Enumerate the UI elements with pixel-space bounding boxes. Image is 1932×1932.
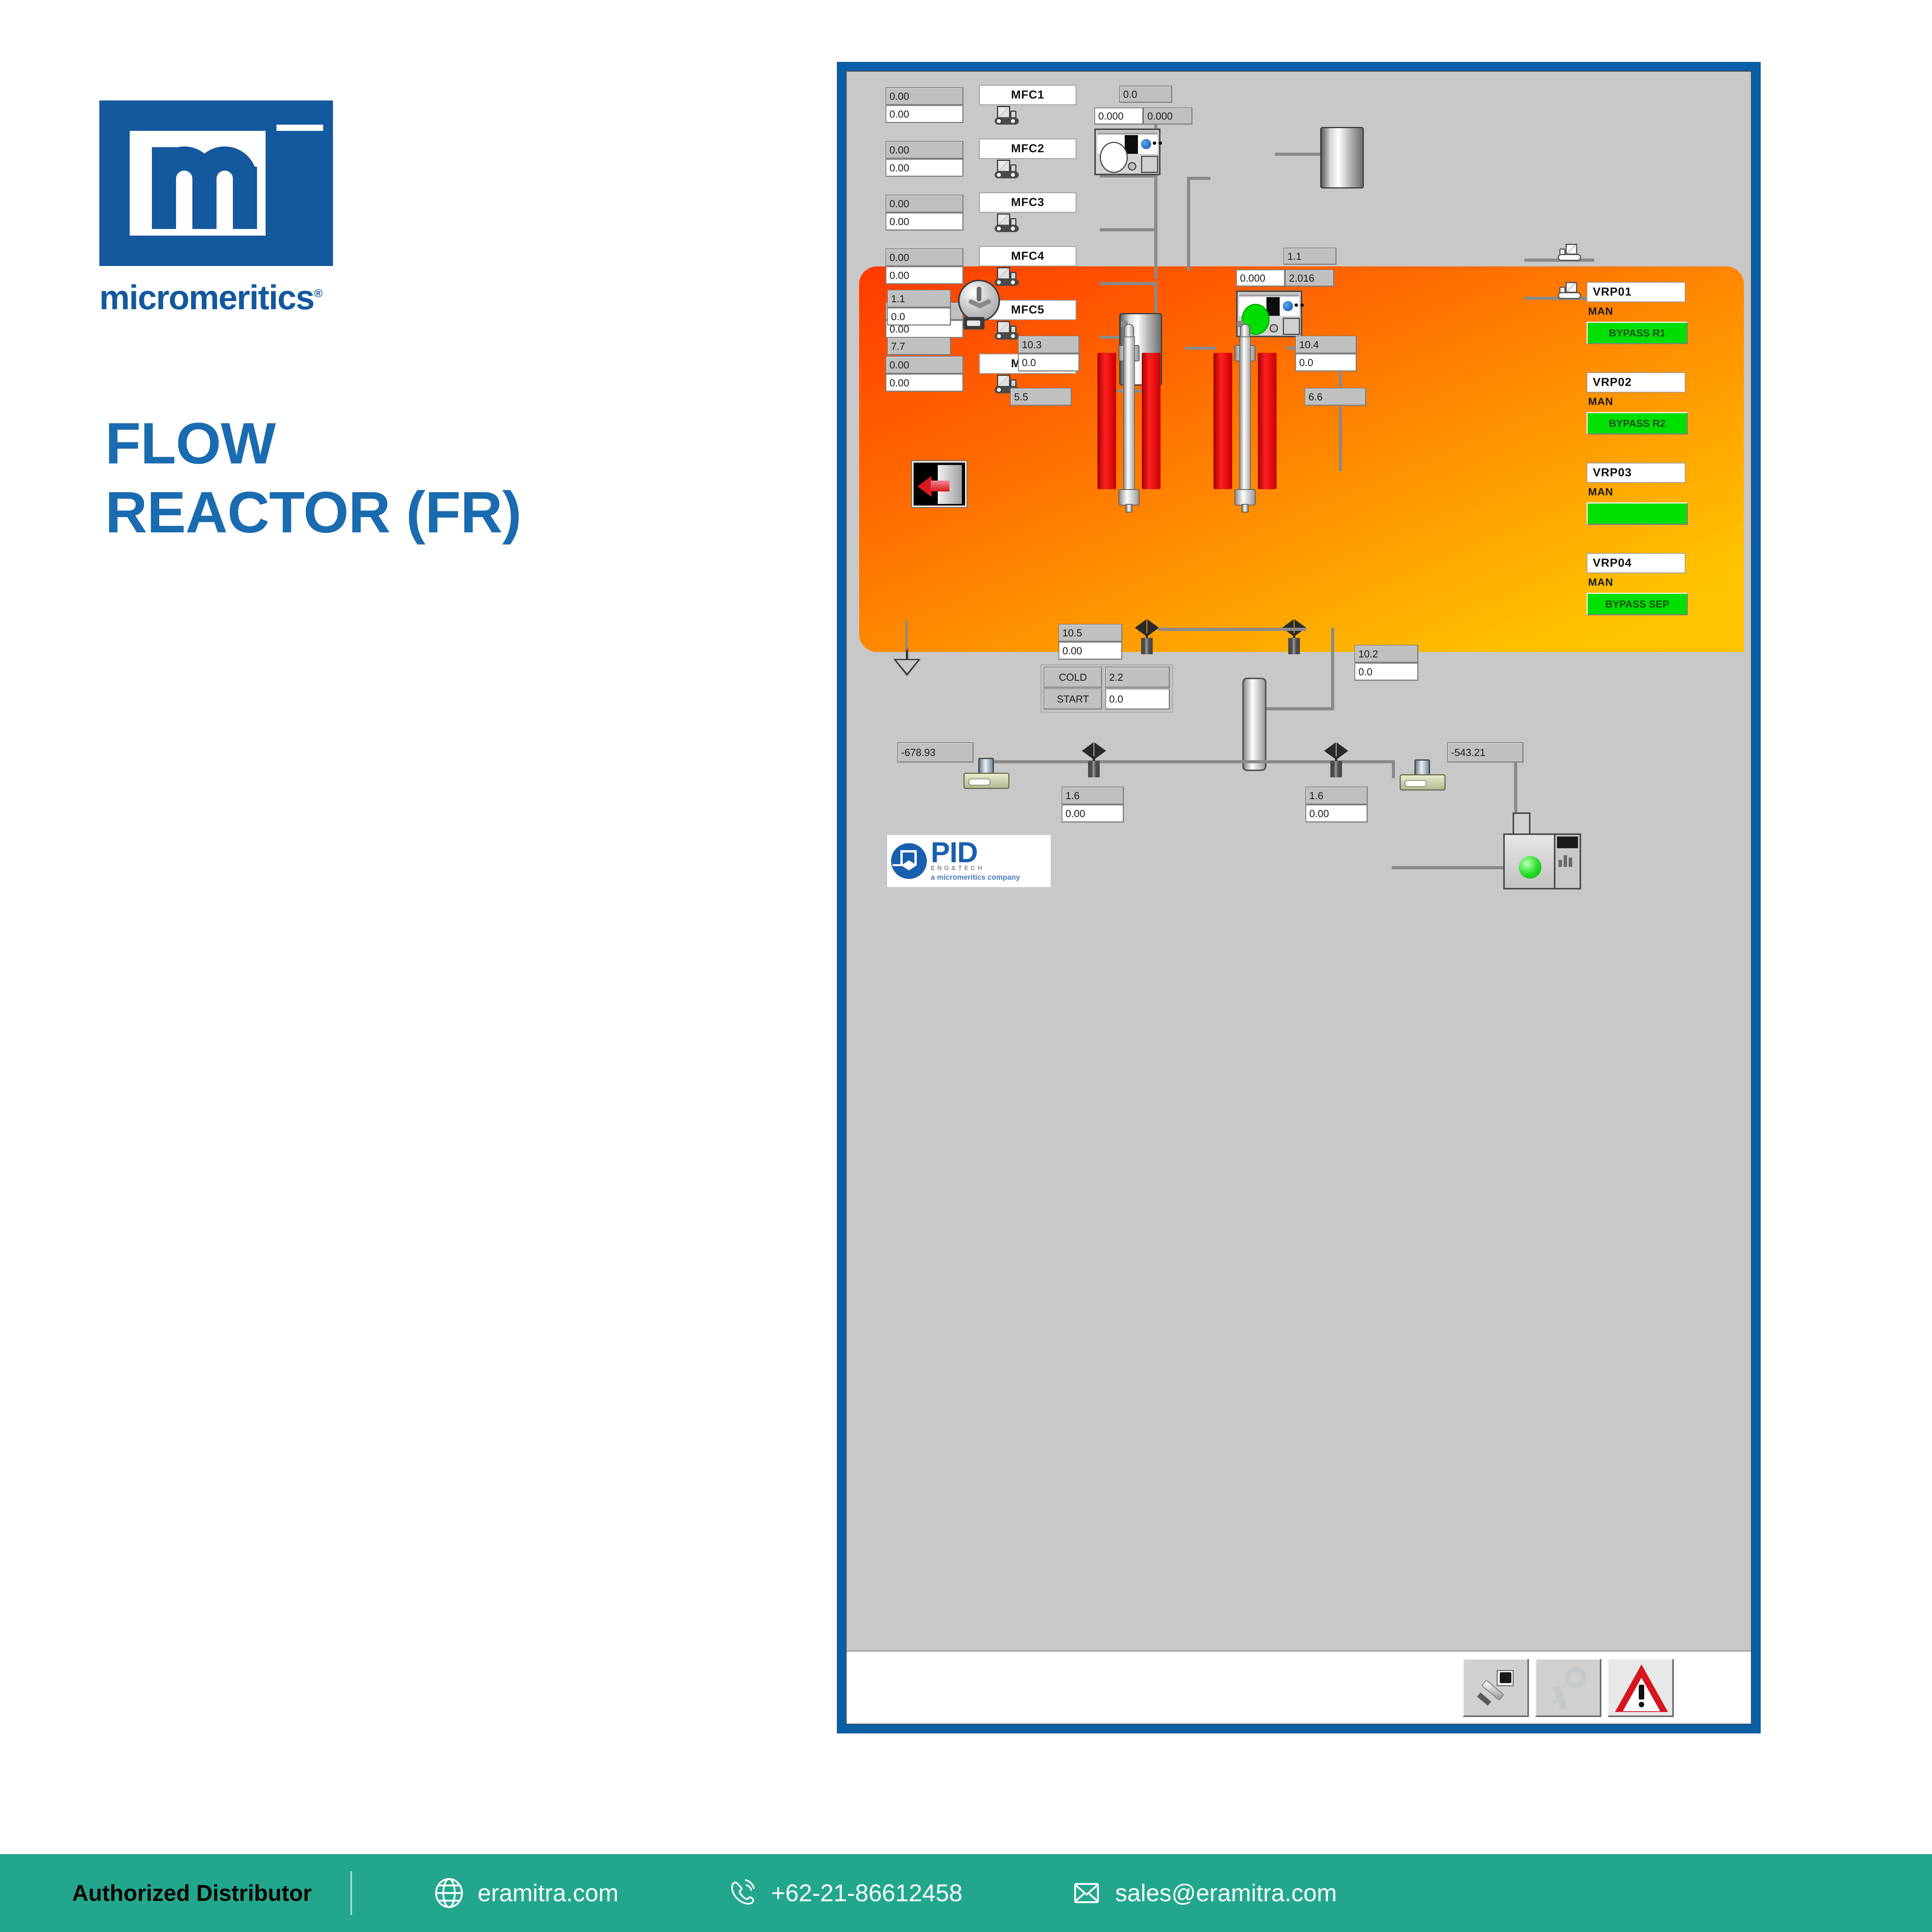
- feed-tank-1: [1320, 127, 1364, 188]
- globe-icon: [434, 1878, 464, 1908]
- pipe-sep-right-down: [1331, 628, 1334, 710]
- pressure-right-value: -543.21: [1447, 742, 1523, 763]
- pid-badge-icon: [891, 843, 927, 879]
- pump1-top-value: 0.0: [1119, 86, 1172, 103]
- vrp04-bypass-button[interactable]: BYPASS SEP: [1587, 593, 1688, 615]
- pid-company-line: a micromeritics company: [931, 874, 1020, 882]
- vrp02-tag[interactable]: VRP02: [1587, 372, 1685, 393]
- reactor2-reading: 0.0: [1295, 354, 1357, 372]
- mfc3-label[interactable]: MFC3: [979, 192, 1076, 213]
- pump1-module[interactable]: [1094, 129, 1161, 175]
- reactor2-setpoint[interactable]: 10.4: [1295, 336, 1357, 354]
- reactor-tube-1[interactable]: [1094, 321, 1164, 523]
- reactor2-aux: 6.6: [1305, 388, 1366, 406]
- pid-subtitle: ENG&TECH: [931, 865, 1020, 872]
- vrp01-bypass-button[interactable]: BYPASS R1: [1587, 322, 1688, 344]
- pump2-top-value: 1.1: [1284, 248, 1337, 265]
- blower-icon[interactable]: [958, 280, 1004, 331]
- separator-level-column: [1242, 678, 1266, 771]
- vrp03-bypass-button[interactable]: [1587, 502, 1688, 525]
- warning-button[interactable]: [1608, 1659, 1674, 1717]
- blower-setpoint[interactable]: 1.1: [887, 290, 951, 308]
- separator-reading: 0.00: [1058, 642, 1122, 660]
- phone-icon: [727, 1878, 758, 1908]
- micromeritics-logo: micromeritics®: [99, 100, 333, 295]
- footer-website-text: eramitra.com: [477, 1879, 618, 1907]
- pressure-transducer-left[interactable]: [963, 756, 1009, 789]
- pipe-hotzone-drain: [905, 621, 908, 650]
- flow-right-setpoint[interactable]: 1.6: [1305, 787, 1368, 805]
- pipe-mfc4: [1100, 282, 1157, 285]
- reactor1-reading: 0.0: [1018, 354, 1080, 372]
- mfc2-valve-icon[interactable]: [995, 160, 1019, 178]
- flow-right-reading: 0.00: [1305, 805, 1368, 822]
- pipe-bottom-right-down: [1392, 760, 1395, 778]
- vrp03-mode: MAN: [1588, 486, 1613, 498]
- mfc3-reading: 0.00: [886, 213, 963, 231]
- mfc2-label[interactable]: MFC2: [979, 139, 1076, 159]
- footer-email[interactable]: sales@eramitra.com: [1071, 1878, 1337, 1908]
- mfc6-setpoint[interactable]: 0.00: [886, 356, 963, 374]
- status-bar: [847, 1650, 1751, 1724]
- reactor1-aux: 5.5: [1010, 388, 1072, 406]
- cold-label[interactable]: COLD: [1044, 667, 1102, 688]
- pump1-left-value: 0.000: [1094, 107, 1143, 125]
- pid-wordmark: PID: [931, 840, 1020, 865]
- vrp03-tag[interactable]: VRP03: [1587, 463, 1685, 483]
- product-title-line1: FLOW: [105, 409, 689, 478]
- mfc4-reading: 0.00: [886, 266, 963, 284]
- control-valve-2-icon[interactable]: [1282, 619, 1306, 654]
- pump2-right-value: 2.016: [1285, 269, 1334, 287]
- mfc1-reading: 0.00: [886, 105, 963, 123]
- logo-wordmark: micromeritics®: [99, 278, 322, 317]
- pump2-left-value: 0.000: [1236, 269, 1285, 287]
- page-title: FLOW REACTOR (FR): [105, 409, 689, 547]
- footer-divider: [350, 1871, 352, 1915]
- vrp04-tag[interactable]: VRP04: [1587, 553, 1685, 573]
- flow-left-reading: 0.00: [1062, 805, 1124, 822]
- plug-connector-icon: [1477, 1668, 1516, 1709]
- pipe-analyzer-across: [1392, 866, 1516, 869]
- flow-valve-right-icon[interactable]: [1324, 742, 1348, 777]
- exit-button[interactable]: [912, 461, 967, 507]
- plug-connector-button[interactable]: [1463, 1659, 1529, 1717]
- vrp02-bypass-button[interactable]: BYPASS R2: [1587, 412, 1688, 435]
- pressure-transducer-right[interactable]: [1400, 757, 1446, 791]
- logo-registered-mark: ®: [314, 287, 322, 300]
- pid-engtech-logo: PID ENG&TECH a micromeritics company: [887, 835, 1051, 887]
- pump1-right-value: 0.000: [1143, 107, 1192, 125]
- mfc2-reading: 0.00: [886, 159, 963, 177]
- pipe-pump1-down: [1187, 177, 1190, 271]
- mfc4-setpoint[interactable]: 0.00: [886, 248, 963, 266]
- reactor-tube-2[interactable]: [1210, 321, 1280, 523]
- pipe-sep-right-across: [1259, 707, 1334, 710]
- blower-reading: 0.0: [887, 308, 951, 326]
- key-icon: [1552, 1666, 1588, 1711]
- footer-phone[interactable]: +62-21-86612458: [727, 1878, 962, 1908]
- mfc4-label[interactable]: MFC4: [979, 246, 1076, 266]
- key-button[interactable]: [1535, 1659, 1601, 1717]
- gas-analyzer[interactable]: [1503, 827, 1581, 889]
- mfc1-label[interactable]: MFC1: [979, 85, 1076, 105]
- vrp04-mode: MAN: [1588, 576, 1613, 588]
- cold-start-value-bottom: 0.0: [1105, 689, 1170, 710]
- flow-left-setpoint[interactable]: 1.6: [1062, 787, 1124, 805]
- control-valve-1-icon[interactable]: [1135, 619, 1159, 654]
- pump1-indicator-icon: [1141, 139, 1151, 149]
- blower-aux: 7.7: [887, 337, 951, 355]
- footer-bar: Authorized Distributor eramitra.com +62-…: [0, 1854, 1932, 1932]
- line-valve-1-icon[interactable]: [1558, 244, 1581, 261]
- authorized-distributor-label: Authorized Distributor: [72, 1880, 312, 1906]
- mfc1-valve-icon[interactable]: [995, 106, 1019, 125]
- pipe-mfc3: [1100, 228, 1157, 231]
- pressure-left-value: -678.93: [897, 742, 974, 763]
- manual-drain-valve-icon[interactable]: [893, 647, 921, 678]
- mfc6-reading: 0.00: [886, 374, 963, 392]
- scada-screen-frame: 0.00 0.00 MFC1 0.00 0.00 MFC2 0.00 0.00 …: [837, 62, 1760, 1733]
- outlet-setpoint[interactable]: 10.2: [1354, 645, 1418, 663]
- vrp02-mode: MAN: [1588, 396, 1613, 408]
- reactor1-setpoint[interactable]: 10.3: [1018, 336, 1080, 354]
- line-valve-2-icon[interactable]: [1558, 282, 1581, 299]
- product-title-line2: REACTOR (FR): [105, 478, 689, 547]
- footer-email-text: sales@eramitra.com: [1115, 1879, 1337, 1907]
- separator-setpoint[interactable]: 10.5: [1058, 624, 1122, 642]
- flow-valve-left-icon[interactable]: [1082, 742, 1106, 777]
- start-label[interactable]: START: [1044, 689, 1102, 710]
- branding-column: micromeritics® FLOW REACTOR (FR): [0, 0, 818, 1830]
- mfc3-setpoint[interactable]: 0.00: [886, 195, 963, 213]
- mfc2-setpoint[interactable]: 0.00: [886, 141, 963, 159]
- outlet-reading: 0.0: [1354, 663, 1418, 681]
- mfc3-valve-icon[interactable]: [995, 213, 1019, 232]
- scada-screen: 0.00 0.00 MFC1 0.00 0.00 MFC2 0.00 0.00 …: [846, 71, 1752, 1724]
- warning-triangle-icon: [1615, 1664, 1668, 1713]
- pump1-status-lamp: [1100, 142, 1128, 173]
- micromeritics-mark-icon: [99, 100, 333, 266]
- analyzer-status-lamp: [1519, 856, 1541, 879]
- vrp01-mode: MAN: [1588, 305, 1613, 317]
- pipe-sep-out: [1158, 628, 1306, 631]
- cold-start-value-top: 2.2: [1105, 667, 1170, 688]
- pipe-pump1-to-tank: [1275, 153, 1321, 156]
- mfc1-setpoint[interactable]: 0.00: [886, 87, 963, 105]
- footer-phone-text: +62-21-86612458: [771, 1879, 962, 1907]
- vrp01-tag[interactable]: VRP01: [1587, 282, 1685, 302]
- pipe-pump1-left: [1187, 177, 1210, 180]
- footer-website[interactable]: eramitra.com: [434, 1878, 618, 1908]
- envelope-icon: [1071, 1878, 1102, 1908]
- logo-wordmark-text: micromeritics: [99, 278, 314, 317]
- pump2-indicator-icon: [1283, 301, 1293, 311]
